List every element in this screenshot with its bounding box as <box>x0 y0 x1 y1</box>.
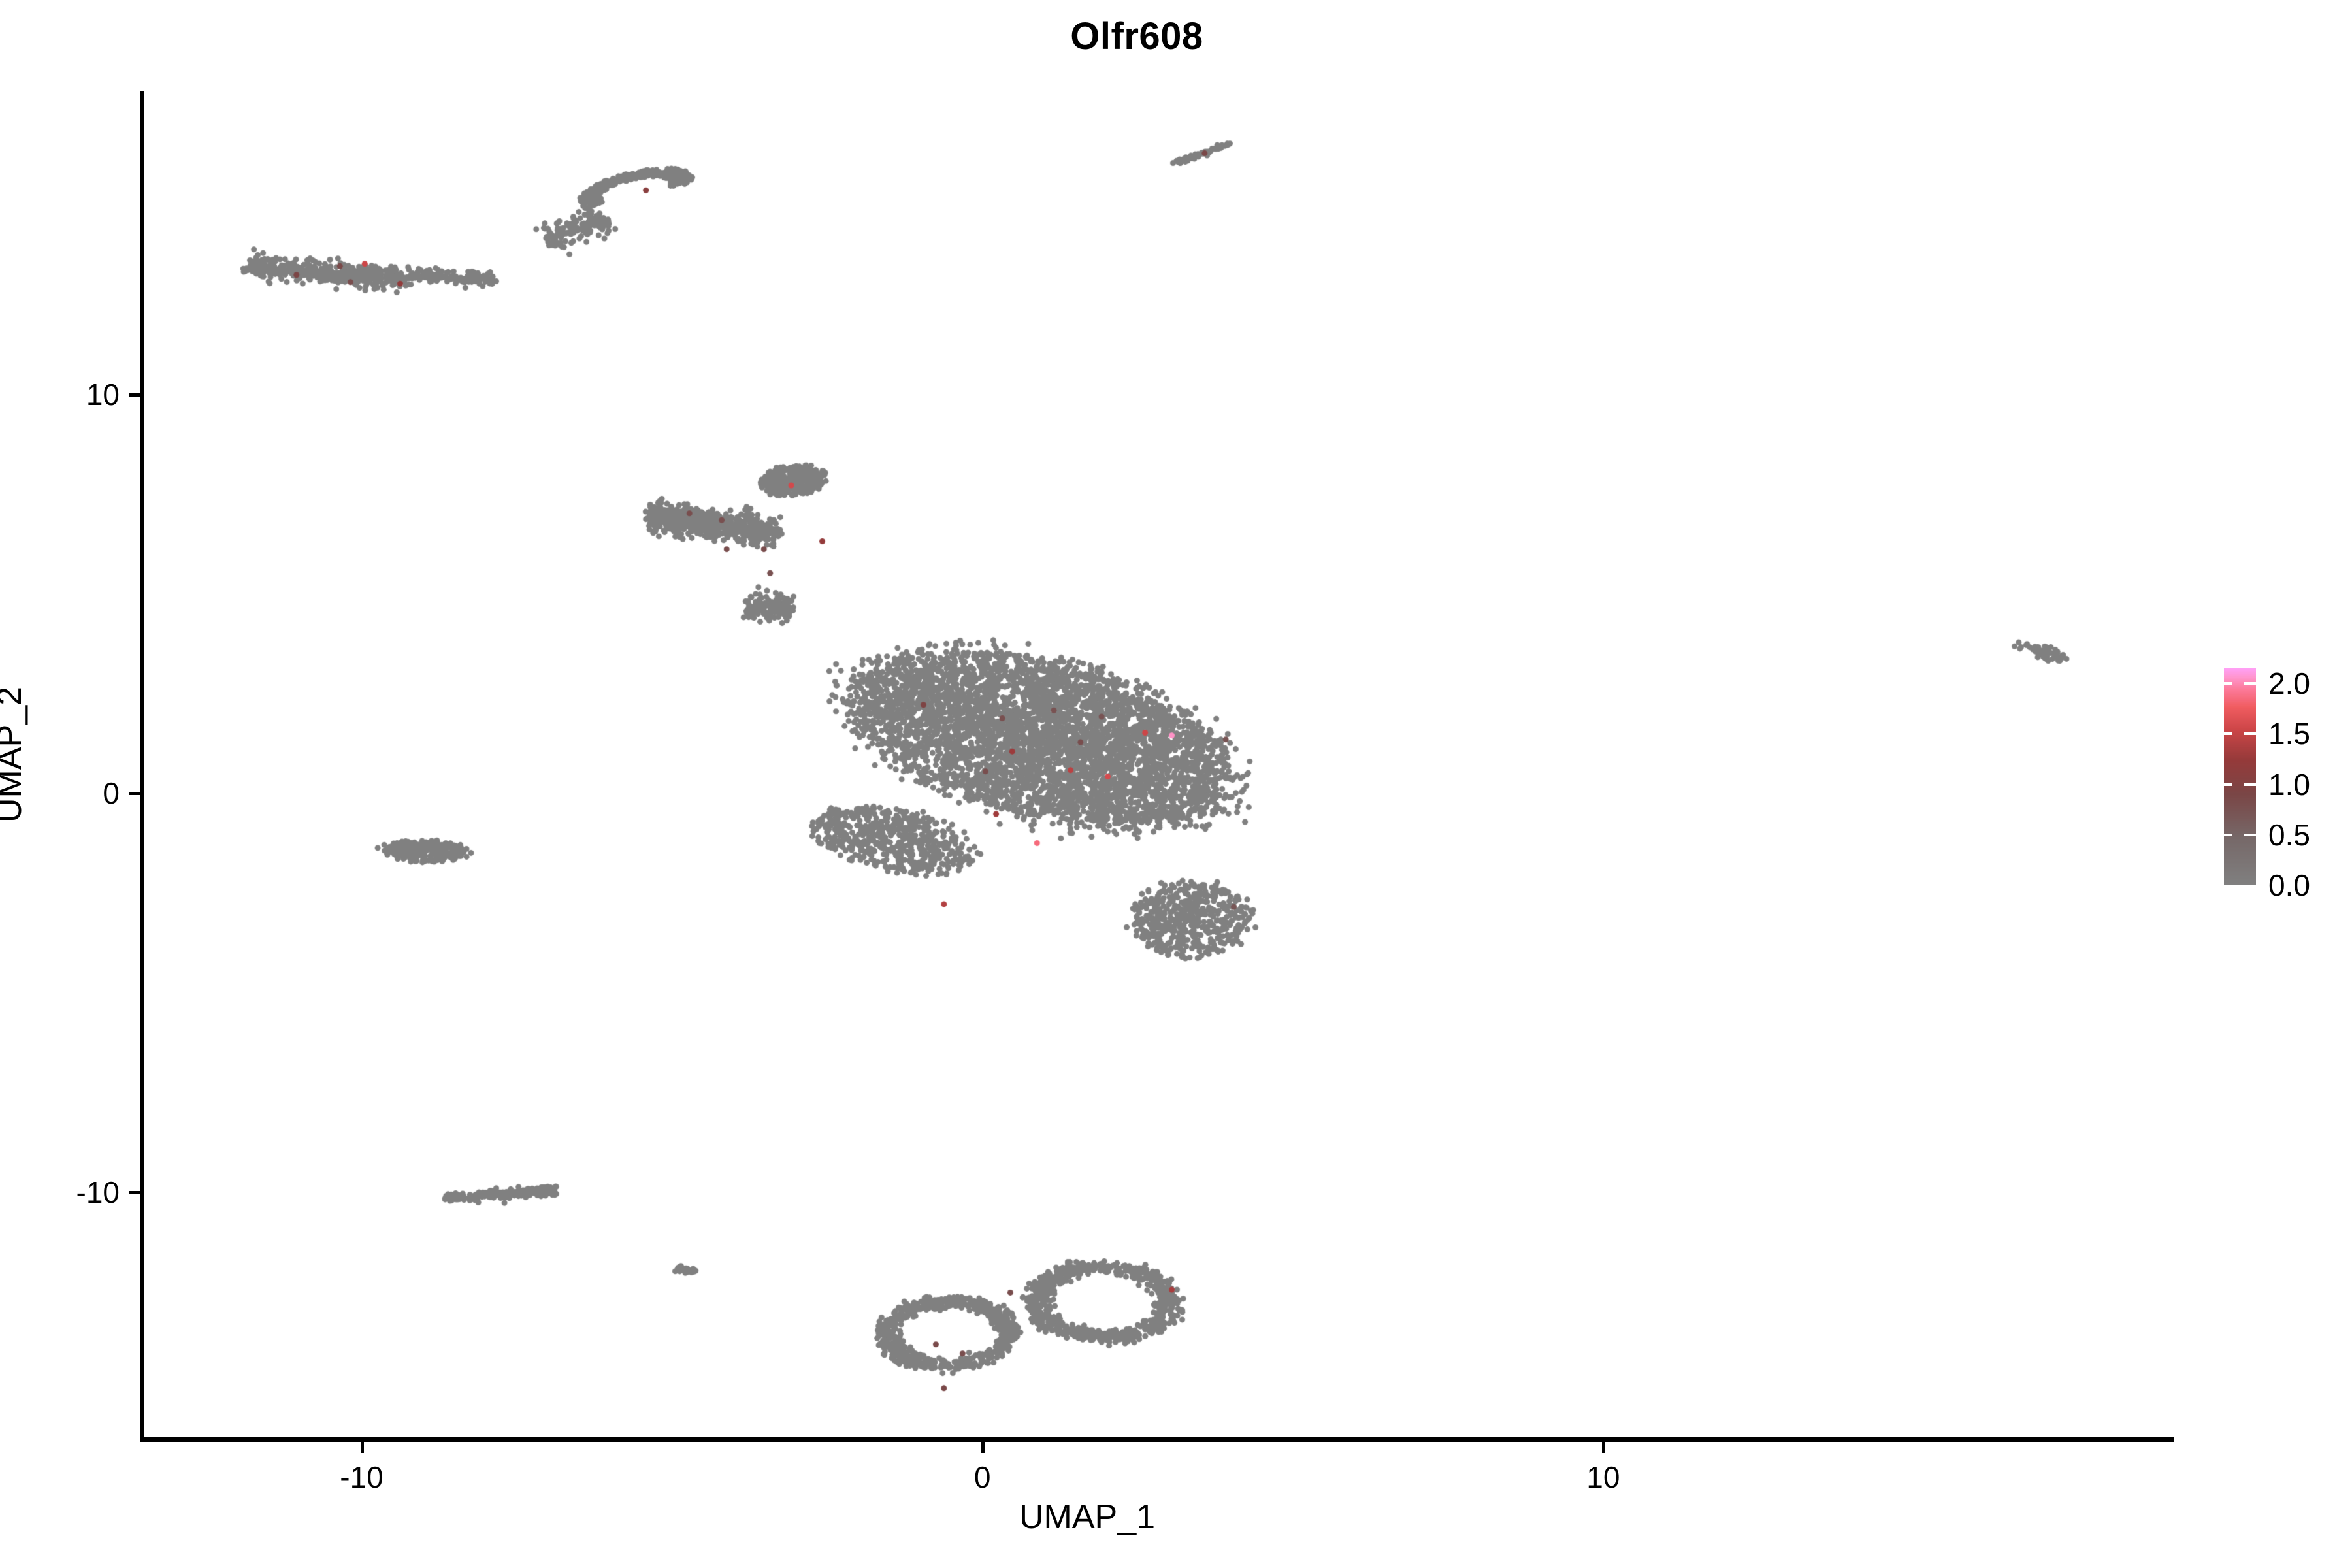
colorbar-tick-label: 0.5 <box>2268 817 2310 853</box>
colorbar-tick-label: 1.0 <box>2268 767 2310 802</box>
umap-feature-plot: Olfr608 -10010 -10010 UMAP_1 UMAP_2 0.00… <box>0 0 2352 1568</box>
x-tick-mark <box>981 1442 985 1453</box>
y-tick-mark <box>129 1191 140 1194</box>
colorbar-tick-label: 2.0 <box>2268 666 2310 701</box>
colorbar-tick-mark <box>2244 682 2256 685</box>
x-axis-line <box>140 1437 2174 1442</box>
colorbar-tick-mark <box>2224 732 2232 735</box>
colorbar-tick-mark <box>2224 682 2232 685</box>
x-tick-label: 10 <box>1586 1460 1620 1495</box>
plot-panel <box>144 91 2174 1439</box>
colorbar-tick-label: 0.0 <box>2268 868 2310 903</box>
color-legend: 0.00.51.01.52.0 <box>2224 668 2342 890</box>
colorbar-tick-mark <box>2224 783 2232 786</box>
y-axis-title: UMAP_2 <box>0 265 29 1245</box>
colorbar-gradient <box>2224 668 2256 885</box>
colorbar-tick-mark <box>2244 732 2256 735</box>
y-axis-line <box>140 91 144 1442</box>
x-tick-label: 0 <box>974 1460 991 1495</box>
y-tick-mark <box>129 792 140 795</box>
page-title: Olfr608 <box>0 14 2313 58</box>
colorbar-tick-mark <box>2244 783 2256 786</box>
colorbar-tick-mark <box>2244 834 2256 836</box>
y-tick-mark <box>129 393 140 397</box>
x-tick-label: -10 <box>340 1460 383 1495</box>
x-tick-mark <box>1602 1442 1605 1453</box>
x-tick-mark <box>361 1442 364 1453</box>
colorbar-tick-mark <box>2224 834 2232 836</box>
scatter-plot-canvas <box>144 91 2174 1439</box>
colorbar-tick-label: 1.5 <box>2268 716 2310 751</box>
x-axis-title: UMAP_1 <box>0 1497 2174 1537</box>
